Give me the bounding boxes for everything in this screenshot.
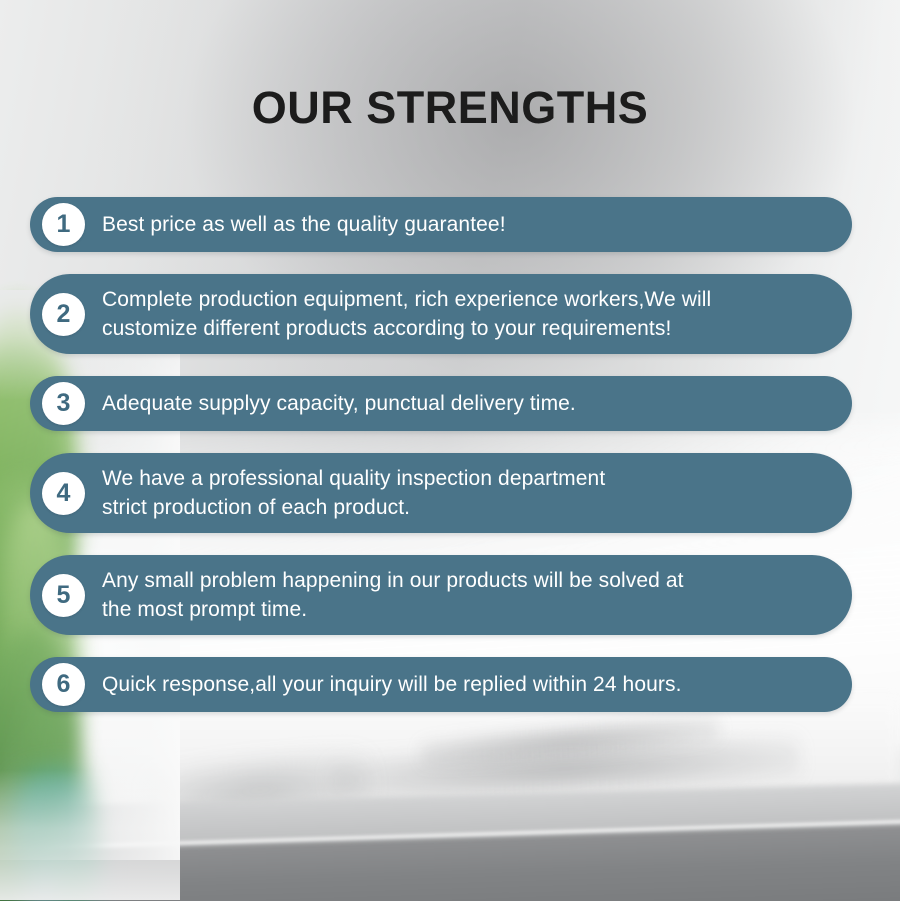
page-title: OUR STRENGTHS [0,82,900,134]
strengths-infographic: OUR STRENGTHS 1 Best price as well as th… [0,0,900,901]
list-item: 5 Any small problem happening in our pro… [30,555,852,635]
plant-fade-bottom [0,770,180,900]
plant-leaf-6 [10,696,108,901]
strength-number-badge: 4 [42,472,85,515]
strength-number-badge: 3 [42,382,85,425]
strength-text: We have a professional quality inspectio… [85,464,852,522]
list-item: 6 Quick response,all your inquiry will b… [30,657,852,712]
table-edge-dark [0,823,900,901]
plant-pot [5,765,112,901]
list-item: 4 We have a professional quality inspect… [30,453,852,533]
strengths-list: 1 Best price as well as the quality guar… [30,197,852,712]
strength-number-badge: 5 [42,574,85,617]
strength-number-badge: 6 [42,663,85,706]
leaf-shadow-c [147,749,372,832]
strength-text: Any small problem happening in our produ… [85,566,852,624]
strength-text: Complete production equipment, rich expe… [85,285,852,343]
list-item: 2 Complete production equipment, rich ex… [30,274,852,354]
leaf-shadow-b [419,713,720,769]
strength-text: Best price as well as the quality guaran… [85,210,852,239]
leaf-shadow-a [329,733,801,806]
background-surface-lower [0,700,900,820]
strength-text: Quick response,all your inquiry will be … [85,670,852,699]
strength-text: Adequate supplyy capacity, punctual deli… [85,389,852,418]
list-item: 1 Best price as well as the quality guar… [30,197,852,252]
strength-number-badge: 1 [42,203,85,246]
strength-number-badge: 2 [42,293,85,336]
table-edge-light [0,782,900,866]
table-edge-highlight [0,818,900,852]
plant-leaf-7 [0,374,20,625]
list-item: 3 Adequate supplyy capacity, punctual de… [30,376,852,431]
